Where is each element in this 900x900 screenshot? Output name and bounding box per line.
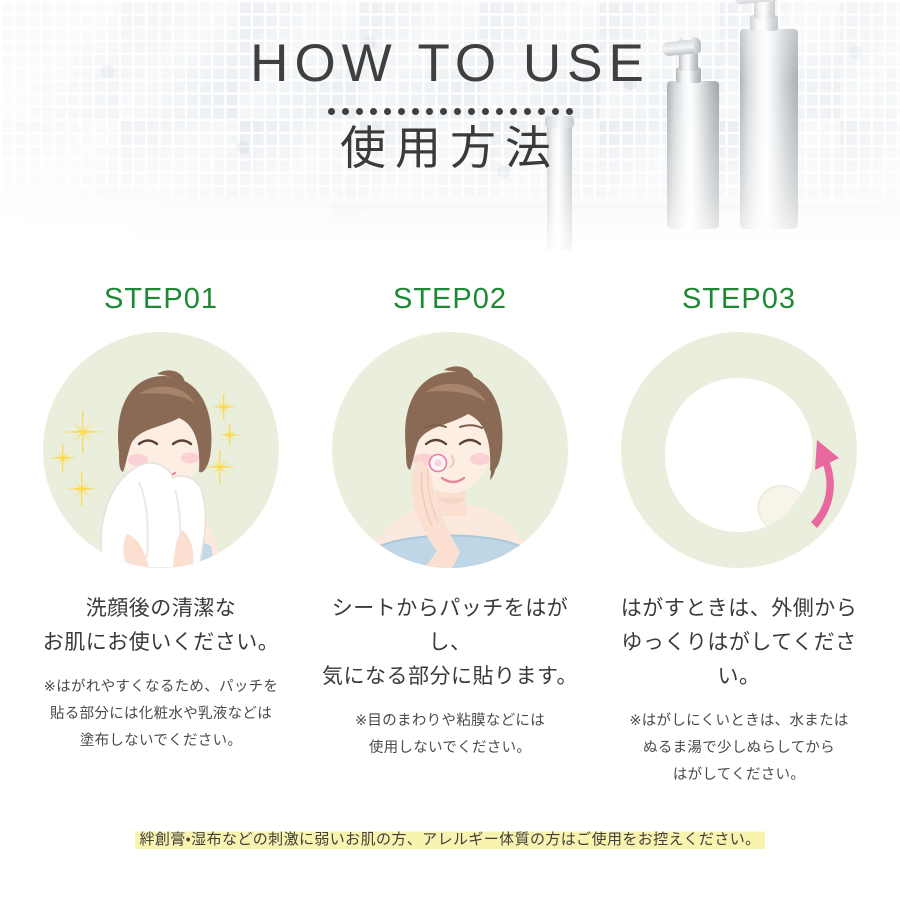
step-03-note-line: ぬるま湯で少しぬらしてから [600, 735, 878, 762]
step-01: STEP01 [22, 285, 300, 805]
step-02-main-text: シートからパッチをはがし、 気になる部分に貼ります。 [311, 592, 589, 694]
step-02-main-line: シートからパッチをはがし、 [311, 592, 589, 660]
sparkle-icon [211, 394, 237, 420]
step-01-note-line: 貼る部分には化粧水や乳液などは [22, 701, 300, 728]
step-02: STEP02 [311, 285, 589, 805]
steps-row: STEP01 [0, 285, 900, 805]
step-03-main-line: はがすときは、外側から [600, 592, 878, 626]
step-02-note-line: 使用しないでください。 [311, 735, 589, 762]
sparkle-icon [49, 444, 77, 472]
page-title-block: HOW TO USE 使用方法 [0, 36, 900, 176]
woman-cheek-patch-icon [332, 332, 568, 568]
step-02-main-line: 気になる部分に貼ります。 [311, 660, 589, 694]
step-02-note-line: ※目のまわりや粘膜などには [311, 708, 589, 735]
step-02-note-text: ※目のまわりや粘膜などには 使用しないでください。 [311, 708, 589, 762]
dotted-divider [0, 108, 900, 115]
step-01-label: STEP01 [22, 285, 300, 314]
page-title-ja: 使用方法 [0, 121, 900, 176]
warning-text: 絆創膏・湿布などの刺激に弱いお肌の方、アレルギー体質の方はご使用をお控えください… [135, 829, 764, 850]
step-01-main-text: 洗顔後の清潔な お肌にお使いください。 [22, 592, 300, 660]
step-01-main-line: お肌にお使いください。 [22, 626, 300, 660]
step-02-label: STEP02 [311, 285, 589, 314]
step-03: STEP03 はがすときは、外側から ゆっくりはがしてください。 ※は [600, 285, 878, 805]
sparkle-icon [65, 472, 99, 506]
step-03-main-text: はがすときは、外側から ゆっくりはがしてください。 [600, 592, 878, 694]
step-01-note-line: 塗布しないでください。 [22, 728, 300, 755]
step-02-illustration [332, 332, 568, 568]
step-01-illustration [43, 332, 279, 568]
warning-banner: 絆創膏・湿布などの刺激に弱いお肌の方、アレルギー体質の方はご使用をお控えください… [0, 826, 900, 855]
step-03-note-text: ※はがしにくいときは、水または ぬるま湯で少しぬらしてから はがしてください。 [600, 708, 878, 788]
step-03-label: STEP03 [600, 285, 878, 314]
step-01-note-text: ※はがれやすくなるため、パッチを 貼る部分には化粧水や乳液などは 塗布しないでく… [22, 674, 300, 754]
step-03-main-line: ゆっくりはがしてください。 [600, 626, 878, 694]
sparkle-icon [203, 450, 237, 484]
step-01-main-line: 洗顔後の清潔な [22, 592, 300, 626]
step-03-note-line: ※はがしにくいときは、水または [600, 708, 878, 735]
peeling-patch-icon [621, 332, 857, 568]
page-title-en: HOW TO USE [0, 36, 900, 92]
step-03-illustration [621, 332, 857, 568]
sparkle-icon [219, 424, 241, 446]
step-01-note-line: ※はがれやすくなるため、パッチを [22, 674, 300, 701]
step-03-note-line: はがしてください。 [600, 762, 878, 789]
how-to-use-page: HOW TO USE 使用方法 STEP01 [0, 0, 900, 900]
